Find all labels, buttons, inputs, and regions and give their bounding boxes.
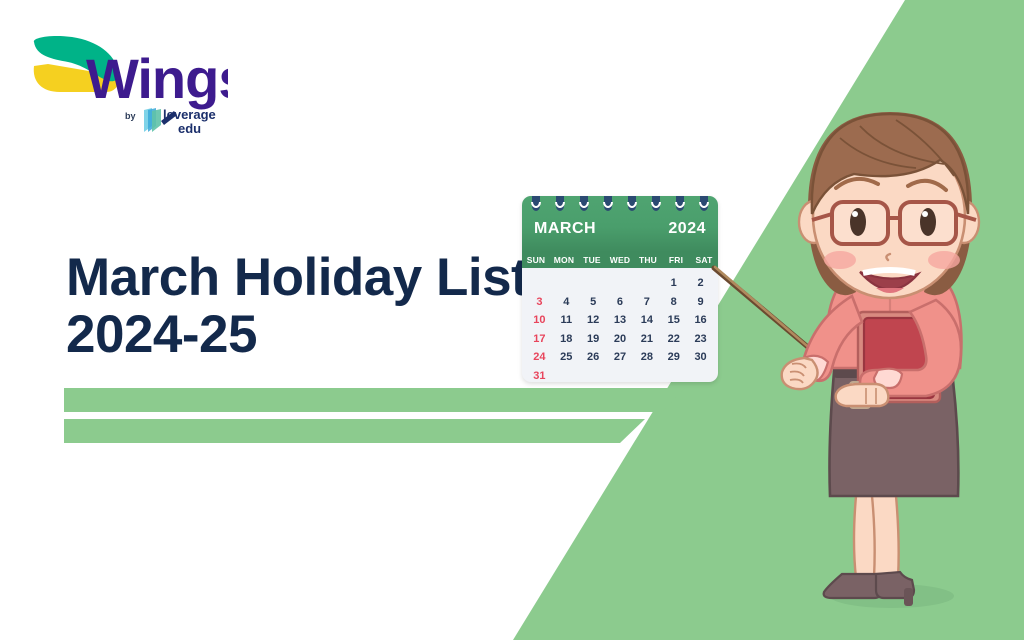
calendar-ring-5 (628, 196, 636, 211)
calendar-day-6[interactable]: 6 (607, 294, 634, 311)
calendar-day-4[interactable]: 4 (553, 294, 580, 311)
calendar-day-28[interactable]: 28 (633, 349, 660, 366)
calendar-day-13[interactable]: 13 (607, 312, 634, 329)
calendar-weekday-tue: TUE (578, 255, 606, 265)
green-stripe-1 (64, 388, 685, 412)
calendar-weekday-fri: FRI (662, 255, 690, 265)
blush-right (928, 251, 960, 269)
calendar-day-31[interactable]: 31 (526, 368, 553, 383)
calendar-widget[interactable]: MARCH 2024 SUNMONTUEWEDTHUFRISAT .....12… (522, 196, 718, 382)
calendar-ring-4 (604, 196, 612, 211)
calendar-day-10[interactable]: 10 (526, 312, 553, 329)
page-title-line-2: 2024-25 (66, 306, 536, 363)
calendar-blank-cell: . (580, 275, 607, 292)
hand-left (782, 358, 818, 389)
calendar-day-8[interactable]: 8 (660, 294, 687, 311)
calendar-day-17[interactable]: 17 (526, 331, 553, 348)
calendar-ring-3 (580, 196, 588, 211)
eye-highlight-right (922, 211, 928, 217)
calendar-ring-7 (676, 196, 684, 211)
calendar-day-5[interactable]: 5 (580, 294, 607, 311)
calendar-ring-1 (532, 196, 540, 211)
calendar-day-29[interactable]: 29 (660, 349, 687, 366)
calendar-day-25[interactable]: 25 (553, 349, 580, 366)
calendar-day-7[interactable]: 7 (633, 294, 660, 311)
logo-wordmark: Wings (86, 47, 228, 110)
calendar-day-12[interactable]: 12 (580, 312, 607, 329)
calendar-day-19[interactable]: 19 (580, 331, 607, 348)
calendar-day-14[interactable]: 14 (633, 312, 660, 329)
eye-left (850, 208, 866, 236)
calendar-header: MARCH 2024 (522, 196, 718, 252)
calendar-weekday-row: SUNMONTUEWEDTHUFRISAT (522, 252, 718, 268)
green-stripe-2 (64, 419, 645, 443)
wings-logo[interactable]: Wings by leverage edu (28, 22, 228, 137)
calendar-month-label: MARCH (534, 220, 596, 238)
calendar-rings (522, 196, 718, 218)
blush-left (824, 251, 856, 269)
calendar-weekday-wed: WED (606, 255, 634, 265)
logo-sub-edu: edu (178, 121, 201, 136)
calendar-day-1[interactable]: 1 (660, 275, 687, 292)
calendar-day-26[interactable]: 26 (580, 349, 607, 366)
calendar-day-18[interactable]: 18 (553, 331, 580, 348)
teacher-illustration (700, 96, 1024, 640)
calendar-day-20[interactable]: 20 (607, 331, 634, 348)
book-icon (144, 108, 161, 132)
eye-highlight-left (852, 211, 858, 217)
calendar-day-11[interactable]: 11 (553, 312, 580, 329)
calendar-ring-2 (556, 196, 564, 211)
calendar-blank-cell: . (526, 275, 553, 292)
hand-right (836, 384, 889, 406)
calendar-weekday-mon: MON (550, 255, 578, 265)
calendar-day-22[interactable]: 22 (660, 331, 687, 348)
teeth (863, 270, 915, 273)
poster-canvas: Wings by leverage edu March Holiday List… (0, 0, 1024, 640)
calendar-day-3[interactable]: 3 (526, 294, 553, 311)
page-title-line-1: March Holiday List (66, 248, 528, 307)
calendar-day-24[interactable]: 24 (526, 349, 553, 366)
logo-by-label: by (125, 111, 136, 121)
calendar-day-grid[interactable]: .....12345678910111213141516171819202122… (522, 268, 718, 382)
calendar-blank-cell: . (633, 275, 660, 292)
calendar-day-15[interactable]: 15 (660, 312, 687, 329)
calendar-blank-cell: . (553, 275, 580, 292)
calendar-ring-6 (652, 196, 660, 211)
calendar-day-27[interactable]: 27 (607, 349, 634, 366)
calendar-blank-cell: . (607, 275, 634, 292)
calendar-weekday-sun: SUN (522, 255, 550, 265)
calendar-weekday-thu: THU (634, 255, 662, 265)
legs (854, 496, 899, 578)
page-title: March Holiday List 2024-25 (66, 249, 536, 363)
logo-sub-leverage: leverage (163, 107, 216, 122)
calendar-day-21[interactable]: 21 (633, 331, 660, 348)
eye-right (920, 208, 936, 236)
